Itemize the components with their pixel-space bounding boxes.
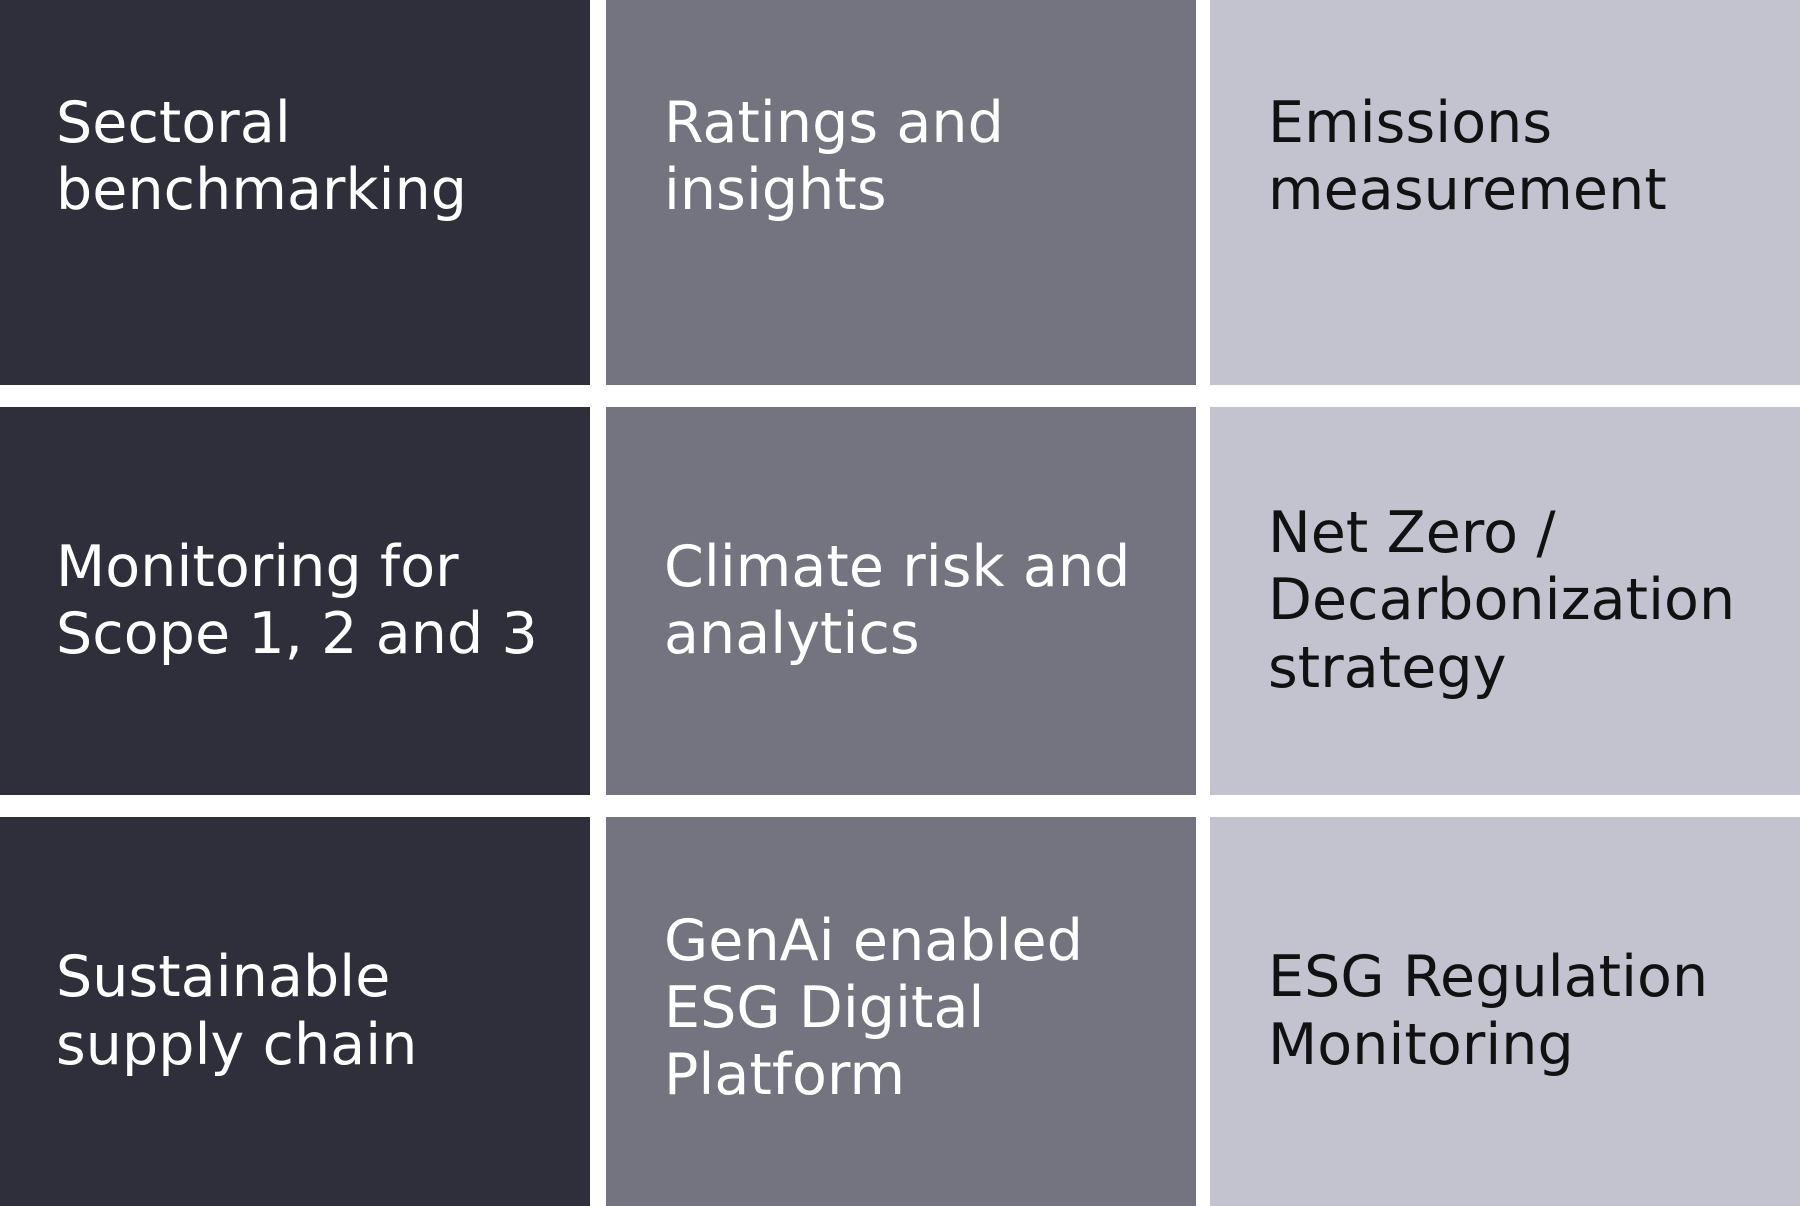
tile-label: Net Zero / Decarbonization strategy — [1210, 500, 1800, 702]
capability-tile-grid: Sectoral benchmarking Ratings and insigh… — [0, 0, 1800, 1200]
tile-label: GenAi enabled ESG Digital Platform — [606, 908, 1196, 1110]
tile-label: ESG Regulation Monitoring — [1210, 944, 1800, 1079]
tile-emissions-measurement[interactable]: Emissions measurement — [1210, 0, 1800, 385]
tile-label: Emissions measurement — [1210, 90, 1800, 225]
tile-label: Sustainable supply chain — [0, 944, 590, 1079]
tile-climate-risk-and-analytics[interactable]: Climate risk and analytics — [606, 407, 1196, 795]
tile-label: Monitoring for Scope 1, 2 and 3 — [0, 534, 590, 669]
tile-sustainable-supply-chain[interactable]: Sustainable supply chain — [0, 817, 590, 1206]
tile-sectoral-benchmarking[interactable]: Sectoral benchmarking — [0, 0, 590, 385]
tile-label: Ratings and insights — [606, 90, 1196, 225]
tile-label: Sectoral benchmarking — [0, 90, 590, 225]
tile-net-zero-decarbonization-strategy[interactable]: Net Zero / Decarbonization strategy — [1210, 407, 1800, 795]
tile-genai-enabled-esg-digital-platform[interactable]: GenAi enabled ESG Digital Platform — [606, 817, 1196, 1206]
tile-esg-regulation-monitoring[interactable]: ESG Regulation Monitoring — [1210, 817, 1800, 1206]
tile-monitoring-for-scope-1-2-and-3[interactable]: Monitoring for Scope 1, 2 and 3 — [0, 407, 590, 795]
tile-label: Climate risk and analytics — [606, 534, 1196, 669]
tile-ratings-and-insights[interactable]: Ratings and insights — [606, 0, 1196, 385]
